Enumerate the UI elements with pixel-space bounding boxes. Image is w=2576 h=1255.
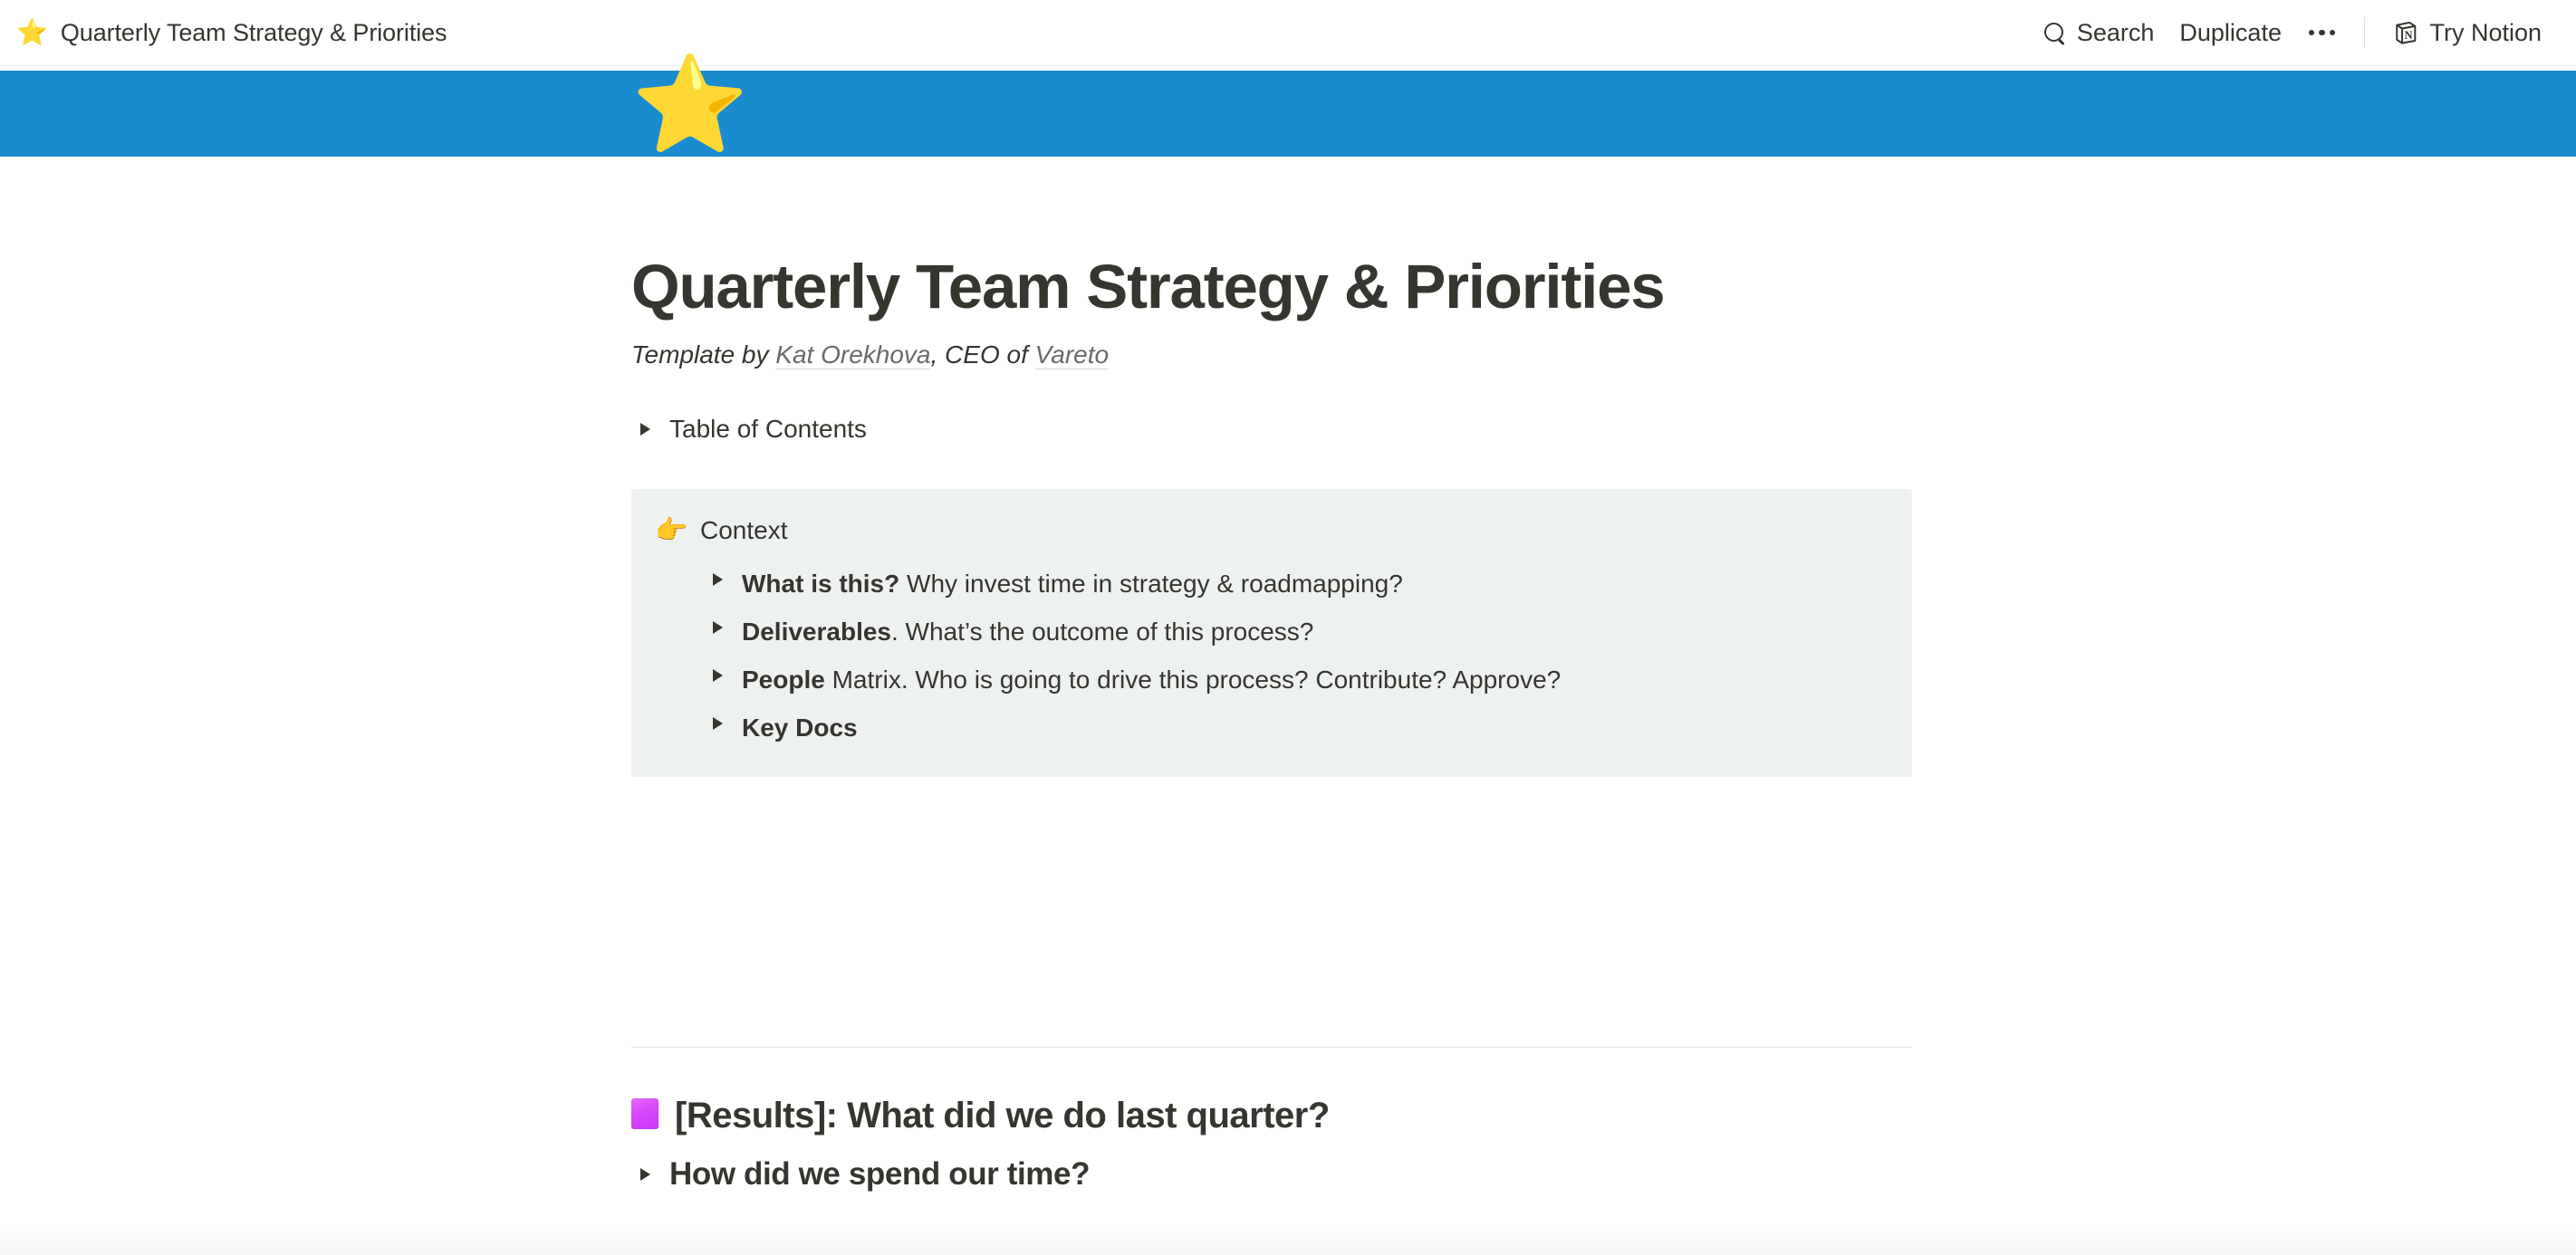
list-item-text: Deliverables. What’s the outcome of this… — [731, 613, 1313, 651]
results-heading[interactable]: [Results]: What did we do last quarter? — [631, 1092, 1330, 1139]
chevron-right-icon[interactable] — [704, 565, 731, 586]
pointing-right-hand-icon: 👉 — [655, 513, 682, 550]
toolbar-divider — [2364, 17, 2365, 48]
chevron-right-icon[interactable] — [631, 1168, 658, 1181]
table-of-contents-toggle[interactable]: Table of Contents — [631, 410, 1912, 448]
callout-item-list: What is this? Why invest time in strateg… — [655, 562, 1883, 750]
time-spend-toggle-heading[interactable]: How did we spend our time? — [631, 1156, 1090, 1193]
chevron-right-icon[interactable] — [704, 661, 731, 682]
search-icon — [2043, 21, 2067, 45]
list-item-text: People Matrix. Who is going to drive thi… — [731, 661, 1561, 699]
page-title[interactable]: Quarterly Team Strategy & Priorities — [631, 252, 1664, 321]
list-item-text: Key Docs — [731, 709, 858, 747]
try-notion-button[interactable]: N Try Notion — [2379, 14, 2554, 53]
star-icon: ⭐ — [16, 20, 48, 45]
dot — [2309, 30, 2315, 36]
search-button[interactable]: Search — [2030, 14, 2167, 53]
list-item-bold: People — [742, 666, 825, 694]
notion-logo-icon: N — [2392, 19, 2419, 46]
dot — [2330, 30, 2336, 36]
duplicate-button[interactable]: Duplicate — [2167, 14, 2294, 53]
list-item[interactable]: Deliverables. What’s the outcome of this… — [704, 610, 1883, 654]
list-item-rest: Matrix. Who is going to drive this proce… — [825, 666, 1561, 694]
byline-prefix: Template by — [631, 340, 775, 369]
callout-title: Context — [700, 513, 788, 550]
byline-middle: , CEO of — [930, 340, 1034, 369]
chevron-right-icon[interactable] — [704, 613, 731, 634]
section-divider — [631, 1047, 1912, 1048]
svg-text:N: N — [2405, 29, 2413, 42]
try-notion-label: Try Notion — [2429, 19, 2542, 47]
time-spend-toggle-label: How did we spend our time? — [658, 1156, 1090, 1193]
list-item[interactable]: Key Docs — [704, 706, 1883, 750]
chevron-right-icon[interactable] — [704, 709, 731, 730]
list-item-rest: Why invest time in strategy & roadmappin… — [899, 570, 1403, 598]
chevron-right-icon[interactable] — [631, 423, 658, 436]
company-link[interactable]: Vareto — [1035, 340, 1109, 369]
list-item[interactable]: What is this? Why invest time in strateg… — [704, 562, 1883, 606]
list-item-text: What is this? Why invest time in strateg… — [731, 565, 1403, 603]
breadcrumb-page-title[interactable]: Quarterly Team Strategy & Priorities — [61, 19, 447, 47]
dot — [2319, 30, 2325, 36]
list-item-bold: What is this? — [742, 570, 899, 598]
page-icon-star-emoji[interactable]: ⭐ — [631, 58, 749, 152]
results-heading-text: [Results]: What did we do last quarter? — [675, 1092, 1330, 1139]
search-label: Search — [2077, 19, 2155, 47]
page-body: ⭐ Quarterly Team Strategy & Priorities T… — [0, 71, 2576, 1255]
callout-header: 👉 Context — [655, 513, 1883, 550]
table-of-contents-label: Table of Contents — [658, 410, 867, 448]
more-horizontal-icon[interactable] — [2294, 21, 2350, 45]
context-callout: 👉 Context What is this? Why invest time … — [631, 489, 1912, 777]
list-item-bold: Key Docs — [742, 714, 858, 742]
duplicate-label: Duplicate — [2179, 19, 2282, 47]
top-bar: ⭐ Quarterly Team Strategy & Priorities S… — [0, 0, 2576, 66]
list-item[interactable]: People Matrix. Who is going to drive thi… — [704, 658, 1883, 702]
table-of-contents-block: Table of Contents — [631, 410, 1912, 448]
byline: Template by Kat Orekhova, CEO of Vareto — [631, 336, 1109, 374]
top-bar-left: ⭐ Quarterly Team Strategy & Priorities — [16, 0, 447, 65]
purple-square-icon — [631, 1098, 658, 1129]
top-bar-right: Search Duplicate N Try Notion — [2030, 0, 2554, 65]
list-item-bold: Deliverables — [742, 618, 891, 646]
author-link[interactable]: Kat Orekhova — [775, 340, 930, 369]
list-item-rest: . What’s the outcome of this process? — [891, 618, 1313, 646]
